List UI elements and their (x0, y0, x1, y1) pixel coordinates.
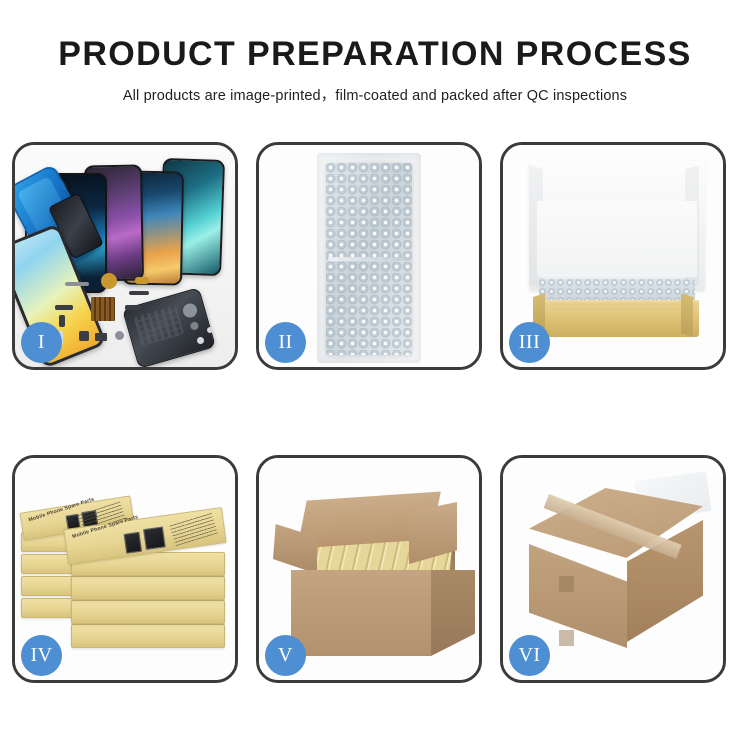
inner-box-packing-image: III (503, 145, 723, 367)
step-badge-3: III (509, 322, 550, 363)
step-panel-3[interactable]: III (500, 142, 726, 370)
kraft-box-stack-item (71, 624, 225, 648)
kraft-box-stack-item (71, 600, 225, 624)
box-artwork-phone-icon (143, 526, 166, 550)
step-panel-5[interactable]: V (256, 455, 482, 683)
products-and-spare-parts-image: I (15, 145, 235, 367)
bubble-seam-icon (328, 257, 410, 261)
kraft-box-stack-item (71, 576, 225, 600)
step-panel-1[interactable]: I (12, 142, 238, 370)
bubble-wrap-packing-image: II (259, 145, 479, 367)
page-subtitle: All products are image-printed，film-coat… (0, 73, 750, 105)
part-antenna-icon (125, 305, 141, 310)
part-washer-icon (197, 337, 204, 344)
page-title: PRODUCT PREPARATION PROCESS (0, 0, 750, 73)
process-steps-grid: I II III (12, 142, 738, 683)
carton-seam-lower-icon (559, 630, 574, 646)
step-badge-5: V (265, 635, 306, 676)
carton-sealed-image: VI (503, 458, 723, 680)
part-flex-cable-icon (129, 291, 149, 295)
step-badge-6: VI (509, 635, 550, 676)
part-connector-icon (135, 277, 149, 284)
page-header: PRODUCT PREPARATION PROCESS All products… (0, 0, 750, 130)
boxes-stacked-image: Mobile Phone Spare Parts Mobile Phone Sp… (15, 458, 235, 680)
foam-insert-icon (537, 201, 697, 277)
step-badge-1: I (21, 322, 62, 363)
box-artwork-phone-icon (124, 532, 143, 554)
part-bracket-icon (55, 305, 73, 310)
box-side-right-icon (681, 293, 693, 337)
part-camera-module-icon (95, 333, 107, 341)
part-coil-icon (101, 273, 117, 289)
box-front-icon (533, 305, 699, 337)
part-speaker-icon (79, 331, 89, 341)
step-badge-2: II (265, 322, 306, 363)
part-chip-grid-icon (91, 297, 115, 321)
box-spec-lines-icon (169, 512, 218, 546)
carton-seam-upper-icon (559, 576, 574, 592)
step-badge-4: IV (21, 635, 62, 676)
carton-loading-image: V (259, 458, 479, 680)
part-button-icon (59, 315, 65, 327)
part-screw-icon (115, 331, 124, 340)
carton-front-icon (291, 570, 431, 656)
step-panel-4[interactable]: Mobile Phone Spare Parts Mobile Phone Sp… (12, 455, 238, 683)
part-washer-small-icon (207, 327, 213, 333)
step-panel-2[interactable]: II (256, 142, 482, 370)
part-bar-icon (65, 282, 89, 286)
step-panel-6[interactable]: VI (500, 455, 726, 683)
